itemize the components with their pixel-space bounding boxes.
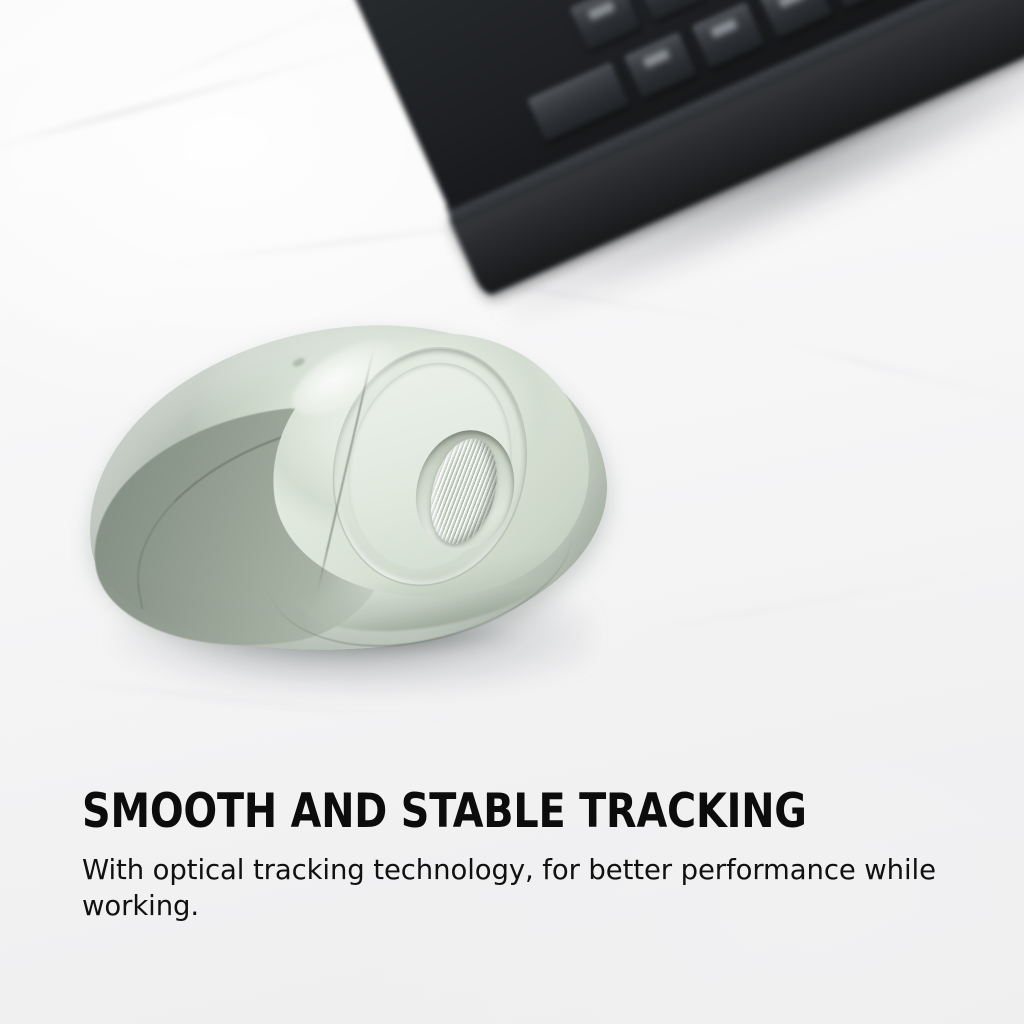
scroll-wheel [420, 431, 508, 551]
headline: SMOOTH AND STABLE TRACKING [82, 788, 909, 837]
keyboard-key [827, 0, 901, 8]
mouse-body [68, 298, 623, 681]
subtitle: With optical tracking technology, for be… [82, 853, 944, 925]
keyboard-key [635, 0, 707, 21]
marketing-copy-block: SMOOTH AND STABLE TRACKING With optical … [82, 788, 962, 924]
product-marketing-image: SMOOTH AND STABLE TRACKING With optical … [0, 0, 1024, 1024]
wireless-mouse [70, 318, 630, 698]
keyboard-key [570, 0, 642, 50]
keyboard-key [759, 0, 833, 38]
